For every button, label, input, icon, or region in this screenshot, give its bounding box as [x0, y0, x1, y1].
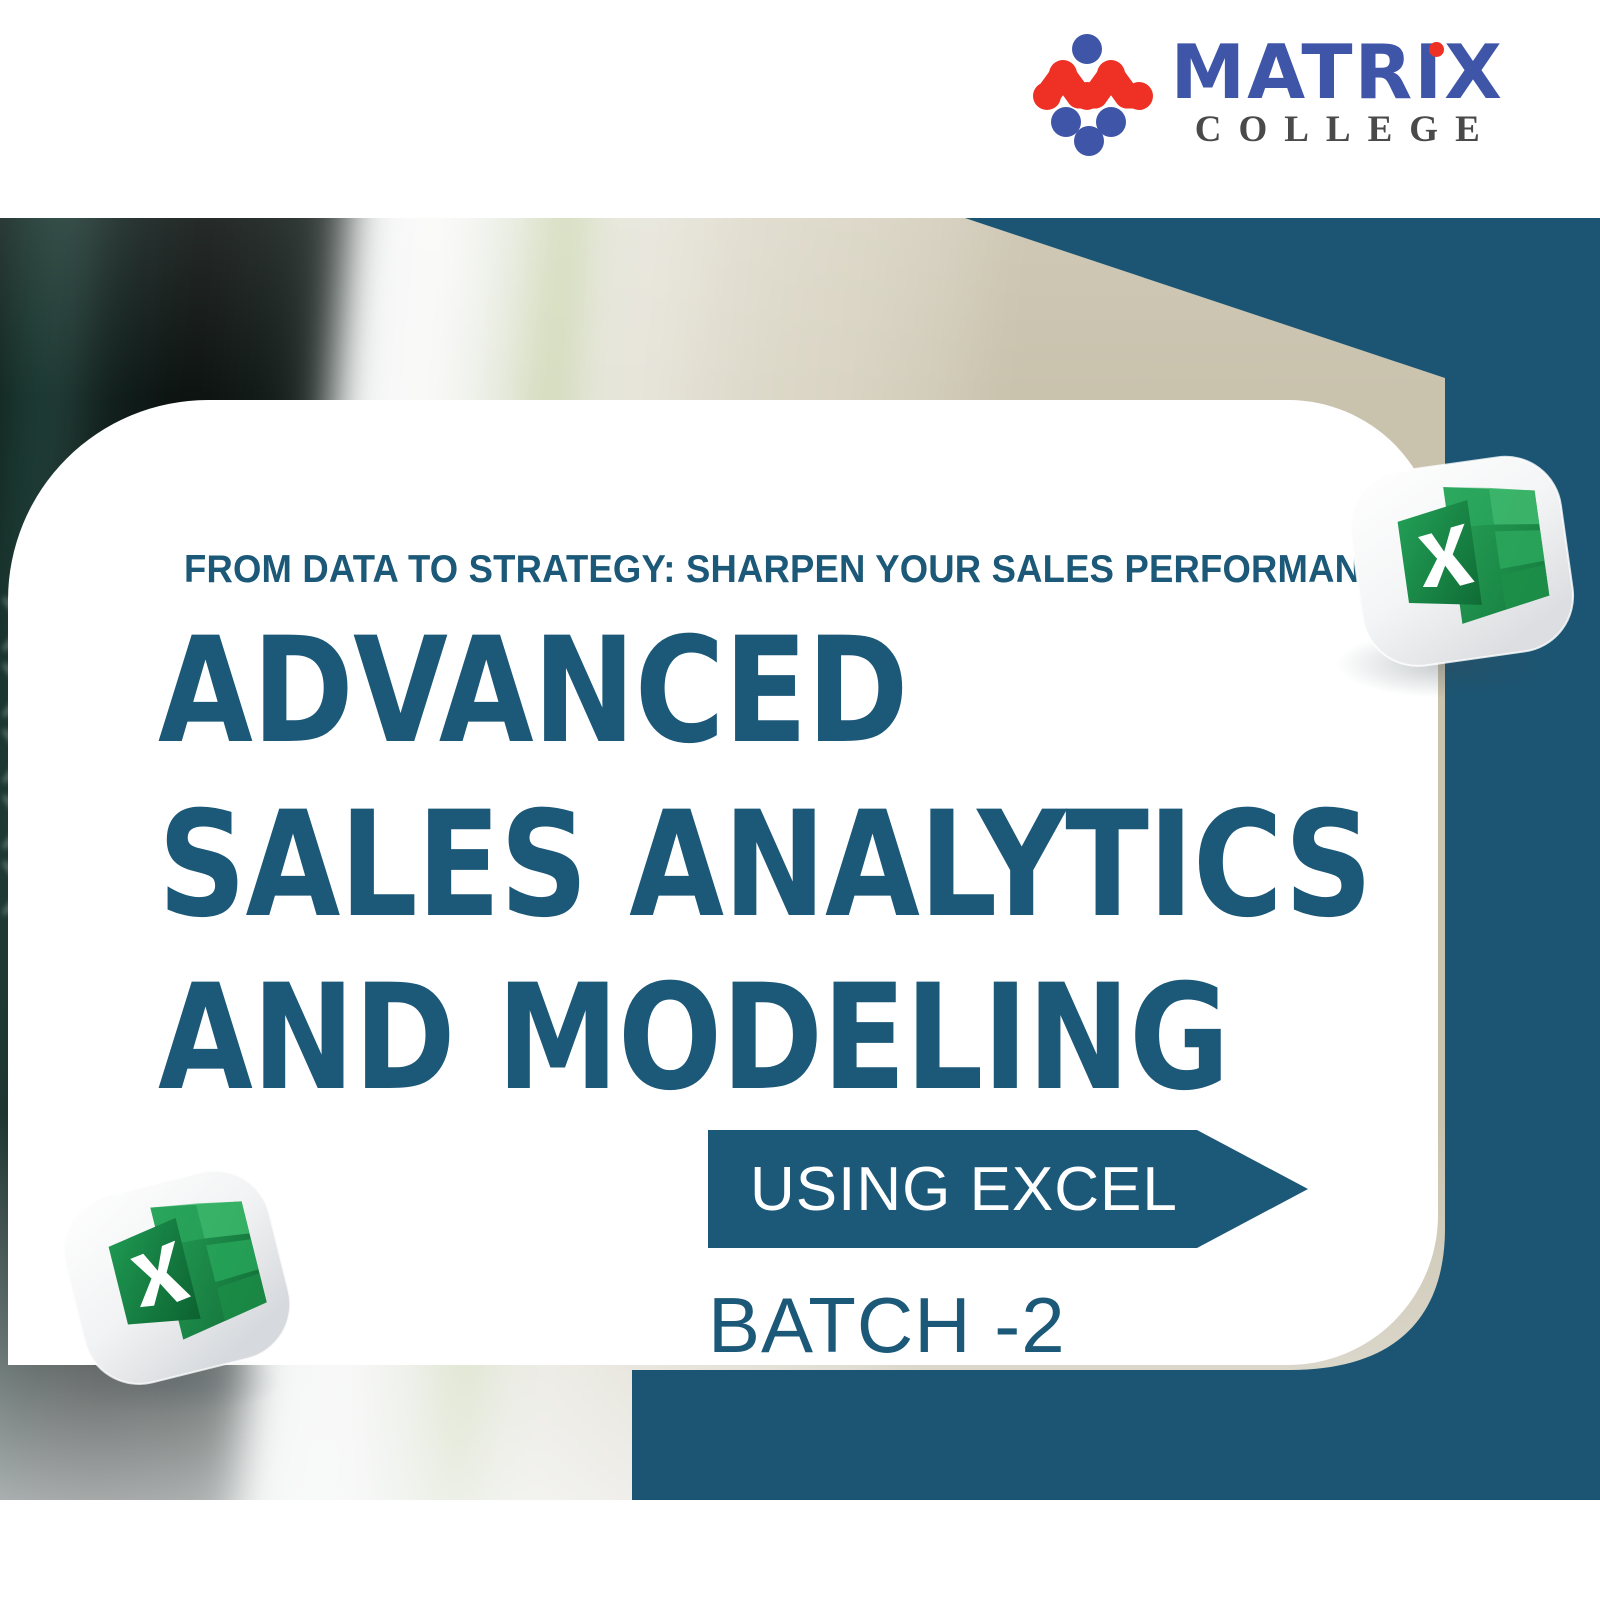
- headline-line-1: ADVANCED: [158, 605, 1233, 779]
- headline-line-2: SALES ANALYTICS: [158, 779, 1233, 953]
- headline: ADVANCED SALES ANALYTICS AND MODELING: [158, 605, 1438, 1126]
- using-excel-arrow-banner: USING EXCEL: [708, 1130, 1308, 1248]
- brand-name-text: MATRIX: [1171, 28, 1505, 116]
- brand-i-dot-icon: [1429, 42, 1444, 57]
- bottom-margin: [0, 1500, 1600, 1600]
- matrix-molecule-icon: [1029, 34, 1157, 156]
- arrow-banner-label: USING EXCEL: [750, 1130, 1178, 1248]
- header-band: MATRIX COLLEGE: [0, 0, 1600, 218]
- brand-logo[interactable]: MATRIX COLLEGE: [1029, 34, 1505, 156]
- excel-3d-icon-top-right: [1330, 448, 1590, 706]
- brand-subtitle: COLLEGE: [1195, 111, 1497, 148]
- batch-label: BATCH -2: [708, 1280, 1066, 1371]
- brand-wordmark: MATRIX COLLEGE: [1171, 34, 1505, 148]
- headline-line-3: AND MODELING: [158, 952, 1233, 1126]
- brand-name: MATRIX: [1171, 38, 1505, 107]
- promo-poster: FROM DATA TO STRATEGY: SHARPEN YOUR SALE…: [0, 0, 1600, 1600]
- tagline: FROM DATA TO STRATEGY: SHARPEN YOUR SALE…: [184, 548, 1412, 592]
- excel-3d-icon-bottom-left: [52, 1168, 302, 1416]
